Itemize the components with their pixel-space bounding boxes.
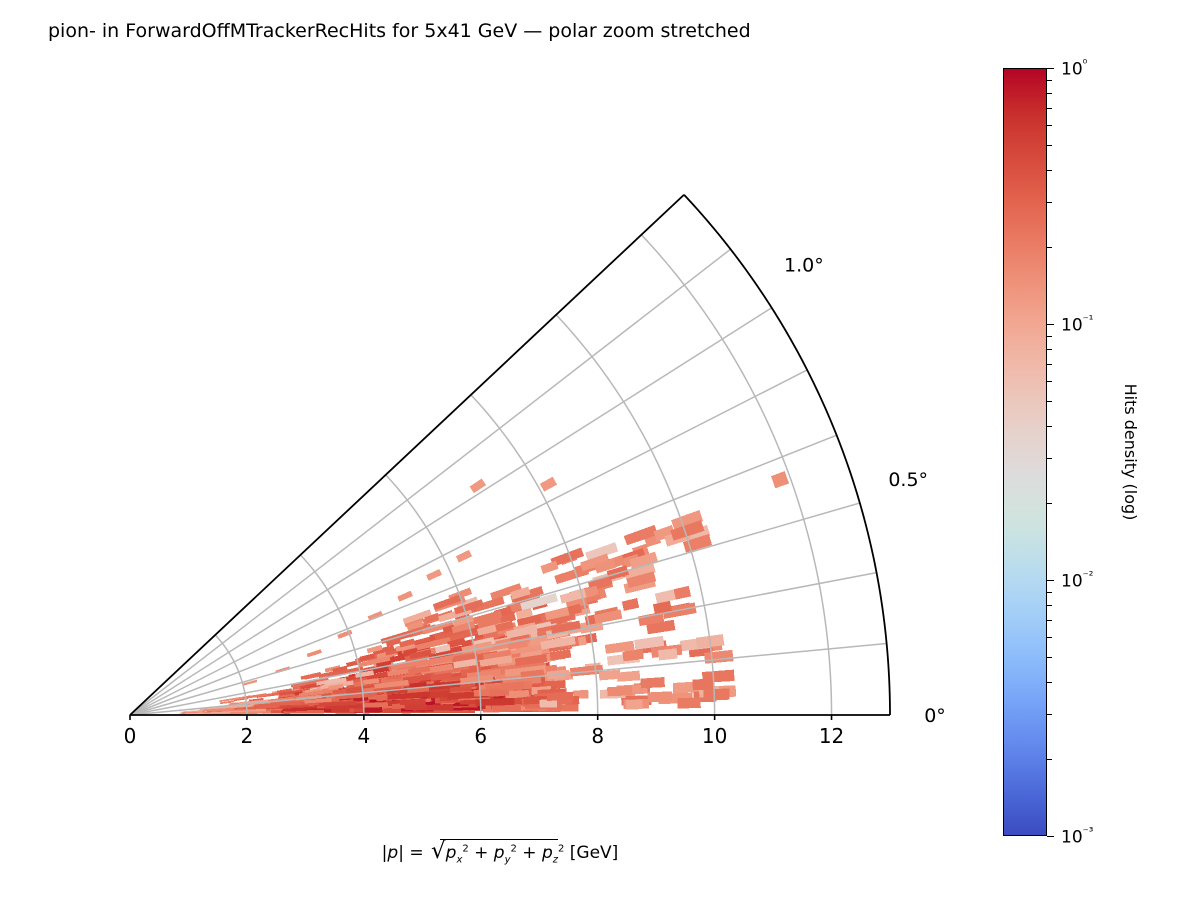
- colorbar-minor-tick: [1047, 93, 1052, 94]
- heatmap-cell: [648, 691, 673, 702]
- colorbar-minor-tick: [1047, 605, 1052, 606]
- colorbar-tick: [1047, 836, 1054, 837]
- colorbar-minor-tick: [1047, 381, 1052, 382]
- heatmap-cell: [363, 707, 382, 712]
- r-tick-label: 12: [819, 724, 844, 748]
- heatmap-cell: [397, 591, 413, 602]
- colorbar-minor-tick: [1047, 682, 1052, 683]
- colorbar-minor-tick: [1047, 80, 1052, 81]
- heatmap-cell: [622, 598, 639, 611]
- heatmap-cell: [405, 704, 427, 710]
- colorbar-minor-tick: [1047, 426, 1052, 427]
- r-tick-label: 10: [702, 724, 727, 748]
- colorbar-minor-tick: [1047, 364, 1052, 365]
- heatmap-cells: [180, 471, 790, 714]
- colorbar-tick-label: 10⁻¹: [1061, 313, 1093, 336]
- r-tick-label: 4: [357, 724, 370, 748]
- colorbar-minor-tick: [1047, 458, 1052, 459]
- colorbar-minor-tick: [1047, 592, 1052, 593]
- colorbar-tick-label: 10⁰: [1061, 57, 1087, 80]
- heatmap-cell: [540, 477, 557, 492]
- heatmap-cell: [655, 589, 676, 603]
- colorbar-minor-tick: [1047, 657, 1052, 658]
- colorbar-minor-tick: [1047, 145, 1052, 146]
- colorbar-minor-tick: [1047, 759, 1052, 760]
- r-tick-label: 0: [124, 724, 137, 748]
- theta-tick-label: 1.0°: [784, 254, 824, 276]
- heatmap-cell: [599, 670, 621, 681]
- colorbar-minor-tick: [1047, 170, 1052, 171]
- colorbar-minor-tick: [1047, 247, 1052, 248]
- colorbar-label: Hits density (log): [1120, 68, 1140, 836]
- colorbar-tick: [1047, 324, 1054, 325]
- heatmap-cell: [607, 686, 632, 696]
- colorbar-minor-tick: [1047, 401, 1052, 402]
- polar-gridlines: [130, 235, 887, 715]
- r-tick-label: 8: [591, 724, 604, 748]
- heatmap-cell: [547, 692, 574, 701]
- colorbar-minor-tick: [1047, 620, 1052, 621]
- r-tick-label: 6: [474, 724, 487, 748]
- colorbar-minor-tick: [1047, 349, 1052, 350]
- colorbar-tick: [1047, 68, 1054, 69]
- r-tick-label: 2: [241, 724, 254, 748]
- colorbar-minor-tick: [1047, 714, 1052, 715]
- polar-heatmap-plot: 0246810120°0.5°1.0°: [0, 0, 1000, 900]
- sqrt-icon: √px2 + py2 + pz2: [429, 838, 564, 865]
- colorbar-gradient: [1003, 68, 1047, 836]
- colorbar-tick-label: 10⁻³: [1061, 825, 1093, 848]
- colorbar-minor-tick: [1047, 108, 1052, 109]
- colorbar-minor-tick: [1047, 202, 1052, 203]
- theta-tick-label: 0.5°: [888, 469, 928, 491]
- heatmap-cell: [641, 677, 665, 688]
- colorbar-minor-tick: [1047, 637, 1052, 638]
- heatmap-cell: [692, 678, 714, 690]
- heatmap-cell: [474, 689, 490, 697]
- heatmap-cell: [771, 471, 789, 488]
- colorbar-tick-label: 10⁻²: [1061, 569, 1093, 592]
- x-axis-label: |p| = √px2 + py2 + pz2 [GeV]: [0, 838, 1000, 865]
- colorbar-minor-tick: [1047, 125, 1052, 126]
- theta-tick-label: 0°: [924, 705, 946, 727]
- heatmap-cell: [677, 697, 700, 708]
- heatmap-cell: [540, 561, 558, 574]
- colorbar-minor-tick: [1047, 503, 1052, 504]
- colorbar-minor-tick: [1047, 336, 1052, 337]
- heatmap-cell: [703, 688, 729, 700]
- colorbar[interactable]: 10⁰10⁻¹10⁻²10⁻³: [1003, 68, 1047, 836]
- heatmap-cell: [622, 650, 638, 661]
- heatmap-cell: [456, 550, 472, 563]
- figure-root: pion- in ForwardOffMTrackerRecHits for 5…: [0, 0, 1200, 900]
- heatmap-cell: [426, 569, 442, 581]
- unit-label: [GeV]: [570, 843, 619, 863]
- heatmap-cell: [617, 671, 640, 682]
- heatmap-cell: [307, 649, 322, 657]
- heatmap-cell: [626, 700, 643, 710]
- colorbar-tick: [1047, 580, 1054, 581]
